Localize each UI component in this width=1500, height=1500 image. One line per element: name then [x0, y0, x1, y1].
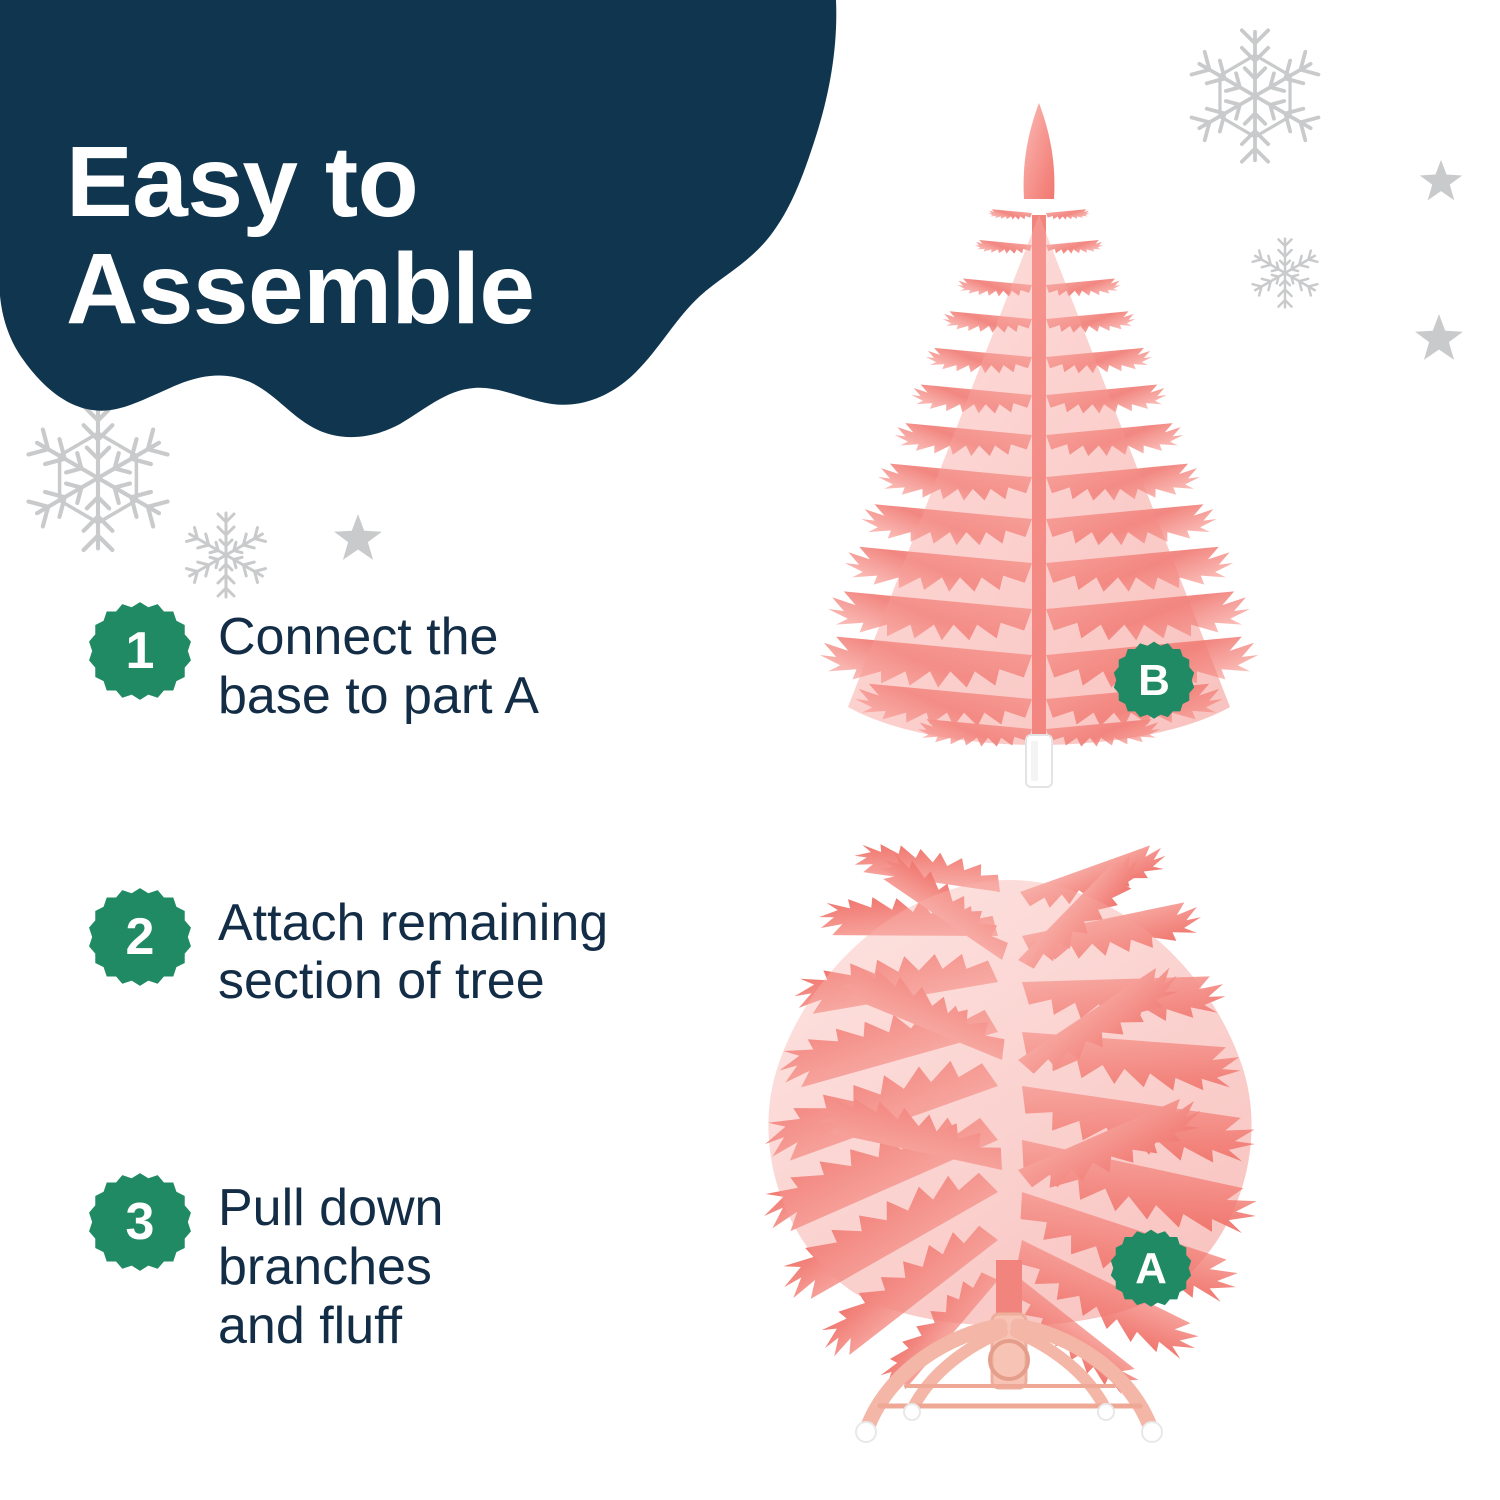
step-text-2: Attach remaining section of tree [218, 886, 608, 1012]
infographic-canvas: Easy to Assemble [0, 0, 1500, 1500]
part-label-b-text: B [1113, 640, 1195, 722]
step-text-1: Connect the base to part A [218, 600, 539, 726]
star-mid-right-icon [1413, 312, 1465, 364]
star-top-right-icon [1418, 158, 1464, 204]
star-left-icon [332, 512, 384, 564]
step-badge-3: 3 [88, 1171, 192, 1275]
step-number-2: 2 [88, 886, 192, 990]
step-number-1: 1 [88, 600, 192, 704]
part-label-b: B [1113, 640, 1195, 722]
tree-connector-pole [1026, 735, 1052, 787]
snowflake-small-left-icon [176, 505, 276, 605]
step-item-1: 1 Connect the base to part A [0, 600, 760, 726]
step-badge-1: 1 [88, 600, 192, 704]
part-label-a-text: A [1110, 1228, 1192, 1310]
step-number-3: 3 [88, 1171, 192, 1275]
part-label-a: A [1110, 1228, 1192, 1310]
step-text-3: Pull down branches and fluff [218, 1171, 443, 1355]
assembly-steps-list: 1 Connect the base to part A 2 Attach re… [0, 600, 760, 1355]
step-item-3: 3 Pull down branches and fluff [0, 1171, 760, 1355]
tree-stand [856, 1314, 1162, 1442]
step-badge-2: 2 [88, 886, 192, 990]
tree-upper-section-image [760, 95, 1320, 855]
step-item-2: 2 Attach remaining section of tree [0, 886, 760, 1012]
page-title: Easy to Assemble [66, 129, 706, 343]
tree-lower-section-image [700, 840, 1320, 1480]
